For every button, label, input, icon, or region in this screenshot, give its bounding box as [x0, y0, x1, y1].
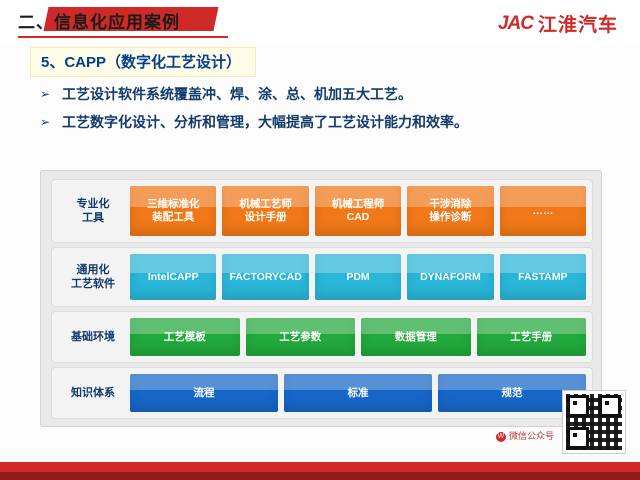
- box-label: FASTAMP: [518, 271, 567, 284]
- diagram-box[interactable]: FASTAMP: [500, 254, 586, 300]
- diagram-box[interactable]: 干涉消除操作诊断: [407, 186, 493, 236]
- diagram-box[interactable]: IntelCAPP: [130, 254, 216, 300]
- box-label: 机械工艺师设计手册: [239, 198, 292, 224]
- bullet-item: ➢ 工艺设计软件系统覆盖冲、焊、涂、总、机加五大工艺。: [40, 84, 610, 104]
- bullet-text: 工艺数字化设计、分析和管理，大幅提高了工艺设计能力和效率。: [62, 112, 468, 132]
- diagram-box[interactable]: 工艺参数: [246, 318, 356, 356]
- box-label: FACTORYCAD: [229, 271, 301, 284]
- qr-eye-bottom-left: [567, 427, 589, 449]
- slide-header: 二、 信息化应用案例 JAC 江淮汽车: [0, 0, 640, 42]
- box-label: 机械工程师CAD: [332, 198, 385, 224]
- box-label: 工艺参数: [279, 331, 321, 344]
- header-underline: [18, 36, 228, 38]
- diagram-box[interactable]: 标准: [284, 374, 432, 412]
- diagram-box[interactable]: PDM: [315, 254, 401, 300]
- bullet-list: ➢ 工艺设计软件系统覆盖冲、焊、涂、总、机加五大工艺。 ➢ 工艺数字化设计、分析…: [40, 84, 610, 140]
- box-label: PDM: [346, 271, 369, 284]
- diagram-box[interactable]: ……: [500, 186, 586, 236]
- row-box-group: 工艺模板 工艺参数 数据管理 工艺手册: [130, 318, 586, 356]
- diagram-box[interactable]: 数据管理: [361, 318, 471, 356]
- header-title-main: 信息化应用案例: [54, 8, 180, 33]
- logo-en-text: JAC: [498, 13, 533, 35]
- diagram-box[interactable]: 机械工程师CAD: [315, 186, 401, 236]
- diagram-box[interactable]: FACTORYCAD: [222, 254, 308, 300]
- qr-eye-top-left: [567, 395, 589, 417]
- bullet-arrow-icon: ➢: [40, 84, 62, 104]
- box-label: 规范: [502, 387, 523, 400]
- bullet-text: 工艺设计软件系统覆盖冲、焊、涂、总、机加五大工艺。: [62, 84, 412, 104]
- diagram-row-base-environment: 基础环境 工艺模板 工艺参数 数据管理 工艺手册: [51, 311, 593, 363]
- box-label: ……: [532, 205, 553, 218]
- diagram-box[interactable]: 工艺模板: [130, 318, 240, 356]
- row-box-group: 流程 标准 规范: [130, 374, 586, 412]
- jac-logo: JAC 江淮汽车: [498, 10, 618, 37]
- bullet-item: ➢ 工艺数字化设计、分析和管理，大幅提高了工艺设计能力和效率。: [40, 112, 610, 132]
- row-label: 知识体系: [60, 386, 126, 400]
- box-label: 流程: [194, 387, 215, 400]
- box-label: 工艺手册: [510, 331, 552, 344]
- box-label: DYNAFORM: [420, 271, 481, 284]
- diagram-row-knowledge-system: 知识体系 流程 标准 规范: [51, 367, 593, 419]
- diagram-box[interactable]: 机械工艺师设计手册: [222, 186, 308, 236]
- bullet-arrow-icon: ➢: [40, 112, 62, 132]
- diagram-row-general-software: 通用化 工艺软件 IntelCAPP FACTORYCAD PDM DYNAFO…: [51, 247, 593, 307]
- watermark-text: W微信公众号: [496, 429, 554, 442]
- qr-code: [562, 390, 626, 454]
- box-label: IntelCAPP: [148, 271, 199, 284]
- header-title: 二、 信息化应用案例: [18, 6, 180, 34]
- watermark-icon: W: [496, 432, 506, 442]
- diagram-box[interactable]: DYNAFORM: [407, 254, 493, 300]
- logo-cn-text: 江淮汽车: [538, 10, 618, 37]
- footer-bar: [0, 462, 640, 480]
- box-label: 工艺模板: [164, 331, 206, 344]
- diagram-row-specialized-tools: 专业化 工具 三维标准化装配工具 机械工艺师设计手册 机械工程师CAD 干涉消除…: [51, 179, 593, 243]
- capp-architecture-diagram: 专业化 工具 三维标准化装配工具 机械工艺师设计手册 机械工程师CAD 干涉消除…: [40, 170, 602, 427]
- row-label: 基础环境: [60, 330, 126, 344]
- slide: 二、 信息化应用案例 JAC 江淮汽车 5、CAPP（数字化工艺设计） ➢ 工艺…: [0, 0, 640, 480]
- box-label: 标准: [348, 387, 369, 400]
- section-title: 5、CAPP（数字化工艺设计）: [30, 47, 256, 77]
- row-box-group: IntelCAPP FACTORYCAD PDM DYNAFORM FASTAM…: [130, 254, 586, 300]
- diagram-box[interactable]: 工艺手册: [477, 318, 587, 356]
- box-label: 数据管理: [395, 331, 437, 344]
- diagram-box[interactable]: 流程: [130, 374, 278, 412]
- qr-eye-top-right: [599, 395, 621, 417]
- row-label: 专业化 工具: [60, 197, 126, 225]
- box-label: 干涉消除操作诊断: [429, 198, 471, 224]
- box-label: 三维标准化装配工具: [147, 198, 200, 224]
- row-label: 通用化 工艺软件: [60, 263, 126, 291]
- diagram-box[interactable]: 三维标准化装配工具: [130, 186, 216, 236]
- header-title-prefix: 二、: [18, 8, 54, 33]
- row-box-group: 三维标准化装配工具 机械工艺师设计手册 机械工程师CAD 干涉消除操作诊断 ……: [130, 186, 586, 236]
